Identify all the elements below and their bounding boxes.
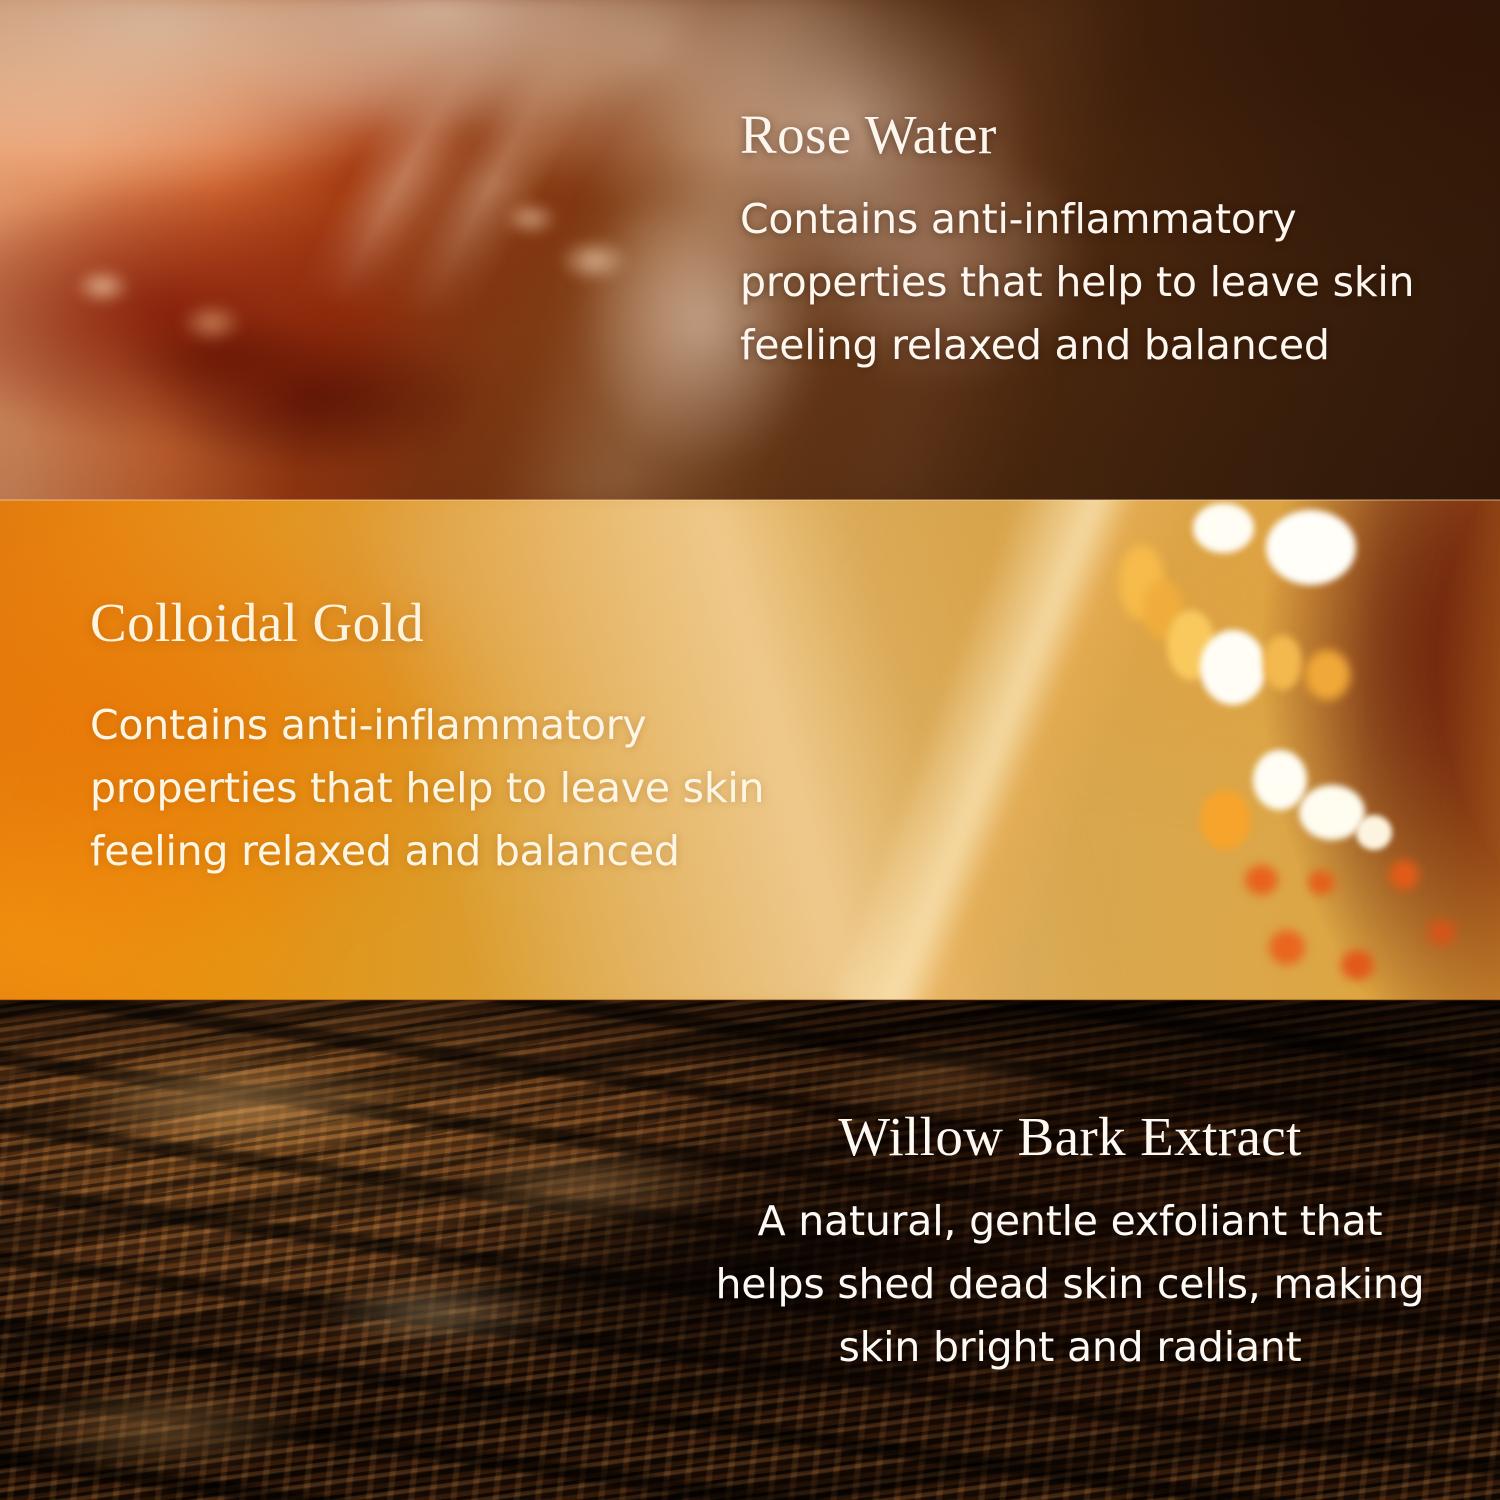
panel-heading-colloidal-gold: Colloidal Gold: [90, 592, 790, 654]
panel-divider-1: [0, 499, 1500, 501]
panel-willow-bark: Willow Bark Extract A natural, gentle ex…: [0, 1000, 1500, 1500]
panel-colloidal-gold: Colloidal Gold Contains anti-inflammator…: [0, 500, 1500, 1000]
willow-bark-text-block: Willow Bark Extract A natural, gentle ex…: [700, 1106, 1440, 1500]
colloidal-gold-text-block: Colloidal Gold Contains anti-inflammator…: [90, 592, 790, 1000]
panel-divider-2: [0, 999, 1500, 1001]
panel-rose-water: Rose Water Contains anti-inflammatory pr…: [0, 0, 1500, 500]
rose-water-text-block: Rose Water Contains anti-inflammatory pr…: [740, 104, 1440, 500]
ingredient-benefits-infographic: Rose Water Contains anti-inflammatory pr…: [0, 0, 1500, 1500]
panel-heading-rose-water: Rose Water: [740, 104, 1440, 166]
panel-heading-willow-bark: Willow Bark Extract: [700, 1106, 1440, 1168]
panel-body-willow-bark: A natural, gentle exfoliant that helps s…: [700, 1190, 1440, 1379]
panel-body-rose-water: Contains anti-inflammatory properties th…: [740, 188, 1440, 377]
panel-body-colloidal-gold: Contains anti-inflammatory properties th…: [90, 694, 790, 883]
